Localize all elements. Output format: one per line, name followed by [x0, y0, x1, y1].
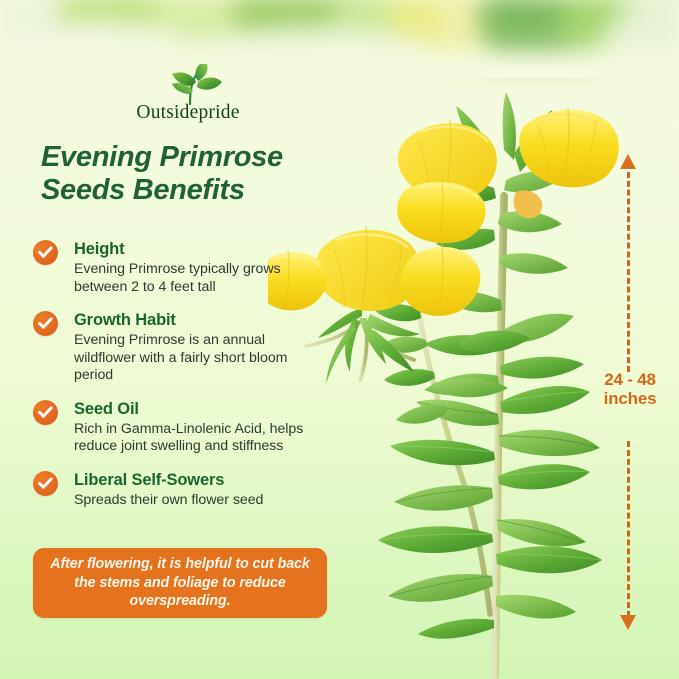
measurement-value: 24 - 48 [604, 370, 656, 389]
care-tip-text: After flowering, it is helpful to cut ba… [33, 555, 327, 611]
arrow-down-icon [620, 615, 636, 630]
list-item: Liberal Self-Sowers Spreads their own fl… [33, 470, 333, 510]
measurement-line-bottom [627, 441, 630, 617]
check-circle-icon [33, 471, 58, 496]
benefit-heading: Height [74, 239, 333, 259]
benefit-heading: Liberal Self-Sowers [74, 470, 333, 490]
list-item: Growth Habit Evening Primrose is an annu… [33, 310, 333, 385]
care-tip-callout: After flowering, it is helpful to cut ba… [33, 548, 327, 618]
measurement-unit: inches [604, 389, 657, 408]
background-fade [0, 0, 679, 78]
benefit-description: Evening Primrose typically grows between… [74, 261, 322, 296]
page-title: Evening Primrose Seeds Benefits [41, 141, 341, 207]
brand-wordmark: Outsidepride [118, 102, 258, 124]
benefit-description: Rich in Gamma-Linolenic Acid, helps redu… [74, 421, 322, 456]
product-infographic: Outsidepride Evening Primrose Seeds Bene… [0, 0, 679, 679]
check-circle-icon [33, 400, 58, 425]
benefit-description: Evening Primrose is an annual wildflower… [74, 332, 322, 385]
check-circle-icon [33, 311, 58, 336]
page-title-line1: Evening Primrose [41, 141, 283, 173]
benefit-description: Spreads their own flower seed [74, 492, 322, 510]
height-measurement: 24 - 48 inches [604, 152, 654, 646]
benefits-list: Height Evening Primrose typically grows … [33, 239, 333, 523]
arrow-up-icon [620, 154, 636, 169]
measurement-label: 24 - 48 inches [587, 370, 673, 408]
benefit-heading: Seed Oil [74, 399, 333, 419]
benefit-heading: Growth Habit [74, 310, 333, 330]
list-item: Seed Oil Rich in Gamma-Linolenic Acid, h… [33, 399, 333, 456]
list-item: Height Evening Primrose typically grows … [33, 239, 333, 296]
check-circle-icon [33, 240, 58, 265]
brand-logo: Outsidepride [118, 64, 258, 126]
measurement-line-top [627, 172, 630, 372]
page-title-line2: Seeds Benefits [41, 174, 245, 206]
